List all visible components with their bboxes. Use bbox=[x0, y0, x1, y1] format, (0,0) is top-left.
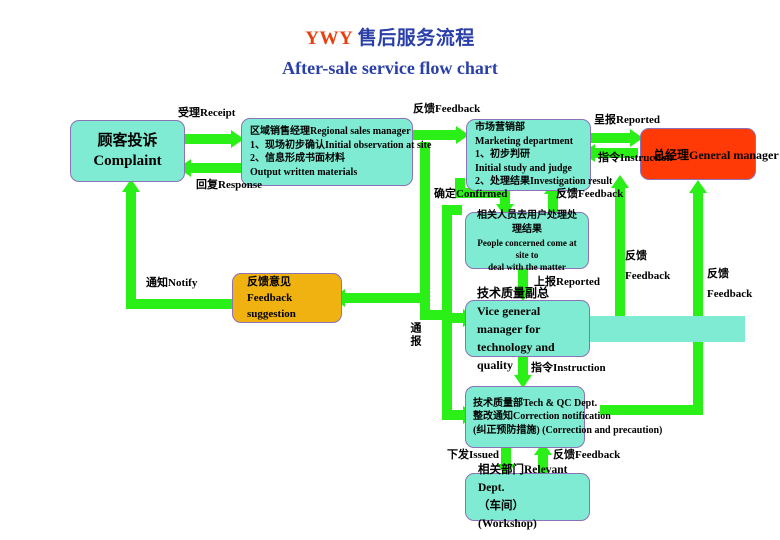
node-rsm-line3: 2、信息形成书面材料 bbox=[250, 152, 345, 166]
label-notification-vertical: 通报 bbox=[407, 322, 423, 348]
node-vice-general-manager[interactable]: 技术质量副总 Vice general manager for technolo… bbox=[465, 300, 590, 357]
label-feedback-bottom: 反馈Feedback bbox=[553, 449, 620, 462]
label-feedback-right-cn: 反馈 bbox=[707, 268, 729, 281]
label-instruction-gm: 指令Instruction bbox=[598, 152, 673, 165]
label-reported-gm: 呈报Reported bbox=[594, 114, 660, 127]
edge-response-line bbox=[190, 163, 242, 173]
node-rsm-line2: 1、现场初步确认Initial observation at site bbox=[250, 139, 431, 153]
node-rsm-line1: 区域销售经理Regional sales manager bbox=[250, 125, 411, 139]
node-relevant-dept-line1: 相关部门Relevant Dept. bbox=[478, 461, 582, 497]
title-brand: YWY bbox=[305, 28, 352, 49]
node-feedback-suggestion-line1: 反馈意见 bbox=[247, 274, 291, 290]
edge-notify-v bbox=[126, 190, 136, 308]
node-complaint[interactable]: 顾客投诉 Complaint bbox=[70, 120, 185, 182]
label-instruction-vgm: 指令Instruction bbox=[531, 362, 606, 375]
node-tech-line2: 整改通知Correction notification bbox=[473, 410, 611, 424]
node-people-concerned[interactable]: 相关人员去用户处理处理结果 People concerned come at s… bbox=[465, 212, 589, 269]
label-confirmed: 确定Confirmed bbox=[434, 188, 507, 201]
node-regional-sales-manager[interactable]: 区域销售经理Regional sales manager 1、现场初步确认Ini… bbox=[241, 118, 413, 186]
edge-feedback-mid-arrow bbox=[611, 175, 629, 188]
node-people-line2: People concerned come at site to bbox=[473, 237, 581, 261]
label-feedback-marketing: 反馈Feedback bbox=[556, 188, 623, 201]
label-receipt: 受理Receipt bbox=[178, 107, 235, 120]
node-marketing-line4: Initial study and judge bbox=[475, 162, 572, 176]
edge-feedback-right-h bbox=[600, 405, 700, 415]
node-marketing-department[interactable]: 市场营销部 Marketing department 1、初步判研 Initia… bbox=[466, 119, 591, 191]
edge-feedback-right-line bbox=[693, 190, 703, 415]
flowchart-canvas: YWY 售后服务流程 After-sale service flow chart bbox=[0, 0, 780, 540]
node-feedback-suggestion-line2: Feedback suggestion bbox=[247, 290, 334, 322]
node-marketing-line5: 2、处理结果Investigation result bbox=[475, 175, 612, 189]
edge-feedback-suggestion-h bbox=[343, 293, 423, 303]
label-reported-up: 上报Reported bbox=[534, 276, 600, 289]
edge-feedback-right-arrow bbox=[689, 180, 707, 193]
node-relevant-dept-line2: （车间）(Workshop) bbox=[478, 497, 582, 533]
label-feedback-top: 反馈Feedback bbox=[413, 103, 480, 116]
label-issued: 下发Issued bbox=[447, 449, 499, 462]
edge-notification-top-h bbox=[442, 205, 462, 215]
node-marketing-line3: 1、初步判研 bbox=[475, 148, 530, 162]
node-complaint-line1: 顾客投诉 bbox=[97, 131, 157, 151]
node-feedback-suggestion[interactable]: 反馈意见 Feedback suggestion bbox=[232, 273, 342, 323]
node-marketing-line2: Marketing department bbox=[475, 135, 573, 149]
title-chinese: 售后服务流程 bbox=[352, 28, 474, 49]
node-relevant-dept[interactable]: 相关部门Relevant Dept. （车间）(Workshop) bbox=[465, 473, 590, 521]
node-people-line3: deal with the matter bbox=[488, 261, 566, 273]
node-complaint-line2: Complaint bbox=[93, 151, 161, 171]
node-tech-qc-dept[interactable]: 技术质量部Tech & QC Dept. 整改通知Correction noti… bbox=[465, 386, 585, 448]
title-english: After-sale service flow chart bbox=[0, 55, 780, 81]
edge-reported-gm-line bbox=[591, 133, 633, 143]
edge-notify-h bbox=[126, 299, 236, 309]
node-tech-line1: 技术质量部Tech & QC Dept. bbox=[473, 397, 597, 411]
node-rsm-line4: Output written materials bbox=[250, 166, 357, 180]
label-feedback-mid-cn: 反馈 bbox=[625, 250, 647, 263]
label-notify: 通知Notify bbox=[146, 277, 197, 290]
edge-receipt-line bbox=[184, 134, 234, 144]
label-feedback-mid-en: Feedback bbox=[625, 270, 670, 283]
label-feedback-right-en: Feedback bbox=[707, 288, 752, 301]
chart-title: YWY 售后服务流程 After-sale service flow chart bbox=[0, 26, 780, 81]
node-marketing-line1: 市场营销部 bbox=[475, 121, 525, 135]
node-people-line1: 相关人员去用户处理处理结果 bbox=[473, 209, 581, 237]
label-response: 回复Response bbox=[196, 179, 262, 192]
node-tech-line3: (纠正预防措施) (Correction and precaution) bbox=[473, 424, 662, 438]
